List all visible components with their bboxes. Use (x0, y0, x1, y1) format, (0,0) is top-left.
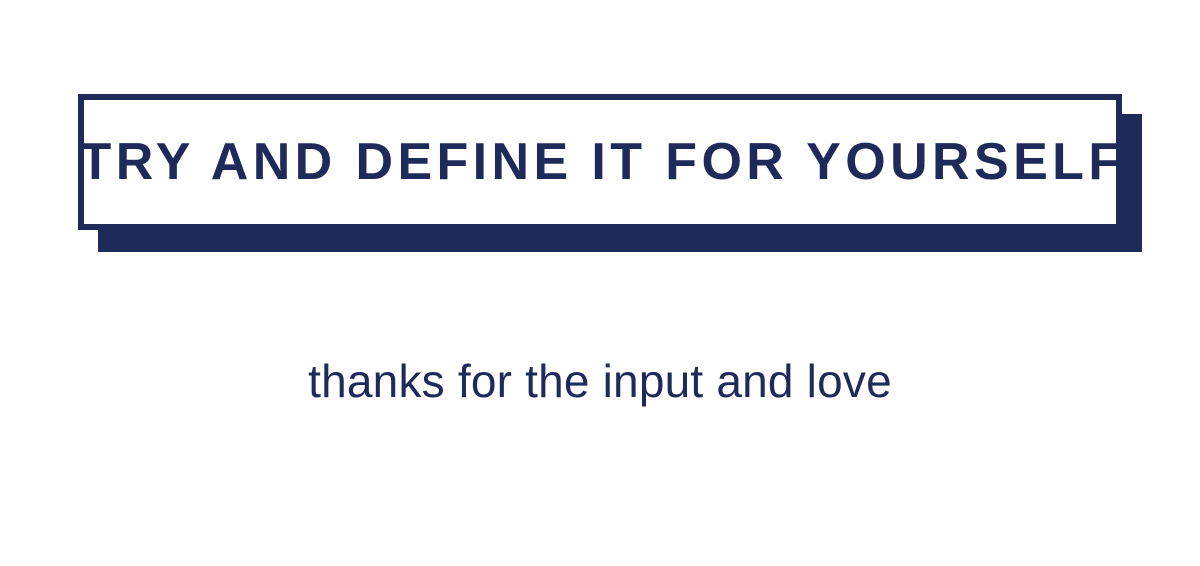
headline-card-group: TRY AND DEFINE IT FOR YOURSELF (78, 94, 1142, 252)
slide-canvas: TRY AND DEFINE IT FOR YOURSELF thanks fo… (0, 0, 1200, 566)
headline-text: TRY AND DEFINE IT FOR YOURSELF (76, 136, 1125, 188)
subtitle-text: thanks for the input and love (0, 352, 1200, 412)
headline-card: TRY AND DEFINE IT FOR YOURSELF (78, 94, 1122, 230)
